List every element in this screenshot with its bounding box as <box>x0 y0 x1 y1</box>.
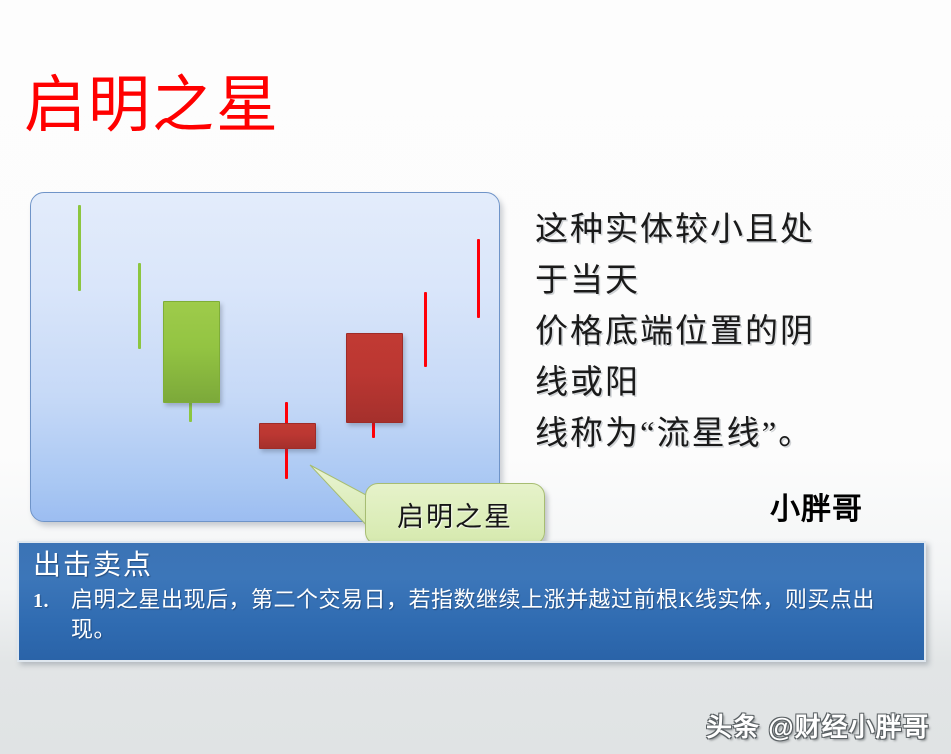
list-item: 1.启明之星出现后，第二个交易日，若指数继续上涨并越过前根K线实体，则买点出现。 <box>33 585 910 645</box>
panel-heading: 出击卖点 <box>33 549 910 583</box>
candle-body-4 <box>259 423 316 449</box>
callout-annotation: 启明之星 <box>300 455 560 555</box>
description-line-2: 于当天 <box>535 256 945 307</box>
slide-canvas: 启明之星 启明之星 这种实体较小且处于当天价格底端位置的阴线或阳线称为“流星线”… <box>0 0 951 754</box>
callout-label: 启明之星 <box>397 495 513 534</box>
list-item-text: 启明之星出现后，第二个交易日，若指数继续上涨并越过前根K线实体，则买点出现。 <box>67 585 910 645</box>
bottom-info-panel: 出击卖点 1.启明之星出现后，第二个交易日，若指数继续上涨并越过前根K线实体，则… <box>17 541 926 662</box>
candle-wick-1 <box>78 205 81 291</box>
candle-wick-7 <box>477 239 480 318</box>
description-line-5: 线称为“流星线”。 <box>535 409 945 460</box>
list-item-number: 1. <box>33 585 67 616</box>
author-signature: 小胖哥 <box>770 484 863 528</box>
panel-list: 1.启明之星出现后，第二个交易日，若指数继续上涨并越过前根K线实体，则买点出现。 <box>33 585 910 645</box>
candle-wick-2 <box>138 263 141 349</box>
candle-body-3 <box>163 301 220 403</box>
callout-bubble: 启明之星 <box>365 483 545 545</box>
description-text: 这种实体较小且处于当天价格底端位置的阴线或阳线称为“流星线”。 <box>535 205 945 460</box>
description-line-3: 价格底端位置的阴 <box>535 307 945 358</box>
watermark: 头条 @财经小胖哥 <box>706 707 930 744</box>
candle-body-5 <box>346 333 403 423</box>
description-line-4: 线或阳 <box>535 358 945 409</box>
page-title: 启明之星 <box>24 71 280 141</box>
description-line-1: 这种实体较小且处 <box>535 205 945 256</box>
candle-wick-6 <box>424 292 427 367</box>
